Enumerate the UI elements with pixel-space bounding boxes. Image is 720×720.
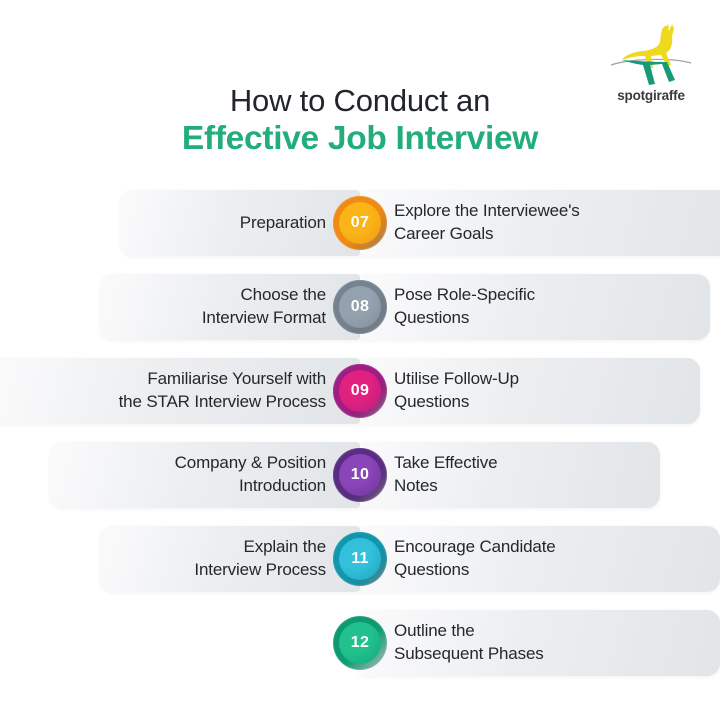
step-card[interactable]: Explain the Interview Process xyxy=(100,526,360,592)
step-card[interactable]: Pose Role-Specific Questions xyxy=(360,274,710,340)
step-row: Preparation0107Explore the Interviewee's… xyxy=(0,190,720,274)
title-line-1: How to Conduct an xyxy=(0,84,720,117)
step-number-badge[interactable]: 11 xyxy=(333,532,387,586)
step-row: Explain the Interview Process0511Encoura… xyxy=(0,526,720,610)
step-11[interactable]: 11Encourage Candidate Questions xyxy=(360,526,720,592)
step-card[interactable]: Utilise Follow-Up Questions xyxy=(360,358,700,424)
step-03[interactable]: Familiarise Yourself with the STAR Inter… xyxy=(0,358,360,424)
step-number: 10 xyxy=(351,466,369,484)
step-label: Company & Position Introduction xyxy=(175,452,326,497)
step-label: Explain the Interview Process xyxy=(194,536,326,581)
steps-list: Preparation0107Explore the Interviewee's… xyxy=(0,190,720,694)
step-number-badge[interactable]: 07 xyxy=(333,196,387,250)
step-number: 08 xyxy=(351,298,369,316)
step-08[interactable]: 08Pose Role-Specific Questions xyxy=(360,274,710,340)
step-row: 12Outline the Subsequent Phases xyxy=(0,610,720,694)
step-number: 09 xyxy=(351,382,369,400)
step-label: Familiarise Yourself with the STAR Inter… xyxy=(119,368,326,413)
step-row: Company & Position Introduction0410Take … xyxy=(0,442,720,526)
step-label: Take Effective Notes xyxy=(394,452,497,497)
step-01[interactable]: Preparation01 xyxy=(120,190,360,256)
step-05[interactable]: Explain the Interview Process05 xyxy=(100,526,360,592)
step-label: Encourage Candidate Questions xyxy=(394,536,556,581)
step-10[interactable]: 10Take Effective Notes xyxy=(360,442,660,508)
title-line-2: Effective Job Interview xyxy=(0,119,720,159)
step-card[interactable]: Preparation xyxy=(120,190,360,256)
step-card[interactable]: Explore the Interviewee's Career Goals xyxy=(360,190,720,256)
step-number: 12 xyxy=(351,634,369,652)
step-number: 11 xyxy=(351,550,369,568)
step-12[interactable]: 12Outline the Subsequent Phases xyxy=(360,610,720,676)
step-label: Preparation xyxy=(240,212,326,235)
step-label: Utilise Follow-Up Questions xyxy=(394,368,519,413)
page-title: How to Conduct an Effective Job Intervie… xyxy=(0,84,720,159)
step-label: Outline the Subsequent Phases xyxy=(394,620,544,665)
step-card[interactable]: Familiarise Yourself with the STAR Inter… xyxy=(0,358,360,424)
step-card[interactable]: Outline the Subsequent Phases xyxy=(360,610,720,676)
step-label: Choose the Interview Format xyxy=(202,284,326,329)
step-number: 07 xyxy=(351,214,369,232)
step-number-badge[interactable]: 09 xyxy=(333,364,387,418)
step-row: Familiarise Yourself with the STAR Inter… xyxy=(0,358,720,442)
step-number-badge[interactable]: 12 xyxy=(333,616,387,670)
step-number-badge[interactable]: 10 xyxy=(333,448,387,502)
step-07[interactable]: 07Explore the Interviewee's Career Goals xyxy=(360,190,720,256)
step-card[interactable]: Choose the Interview Format xyxy=(100,274,360,340)
step-card[interactable]: Company & Position Introduction xyxy=(50,442,360,508)
step-row: Choose the Interview Format0208Pose Role… xyxy=(0,274,720,358)
step-card[interactable]: Encourage Candidate Questions xyxy=(360,526,720,592)
step-card[interactable]: Take Effective Notes xyxy=(360,442,660,508)
step-02[interactable]: Choose the Interview Format02 xyxy=(100,274,360,340)
step-04[interactable]: Company & Position Introduction04 xyxy=(50,442,360,508)
step-label: Explore the Interviewee's Career Goals xyxy=(394,200,580,245)
step-label: Pose Role-Specific Questions xyxy=(394,284,535,329)
step-09[interactable]: 09Utilise Follow-Up Questions xyxy=(360,358,700,424)
giraffe-icon xyxy=(605,22,697,90)
step-number-badge[interactable]: 08 xyxy=(333,280,387,334)
